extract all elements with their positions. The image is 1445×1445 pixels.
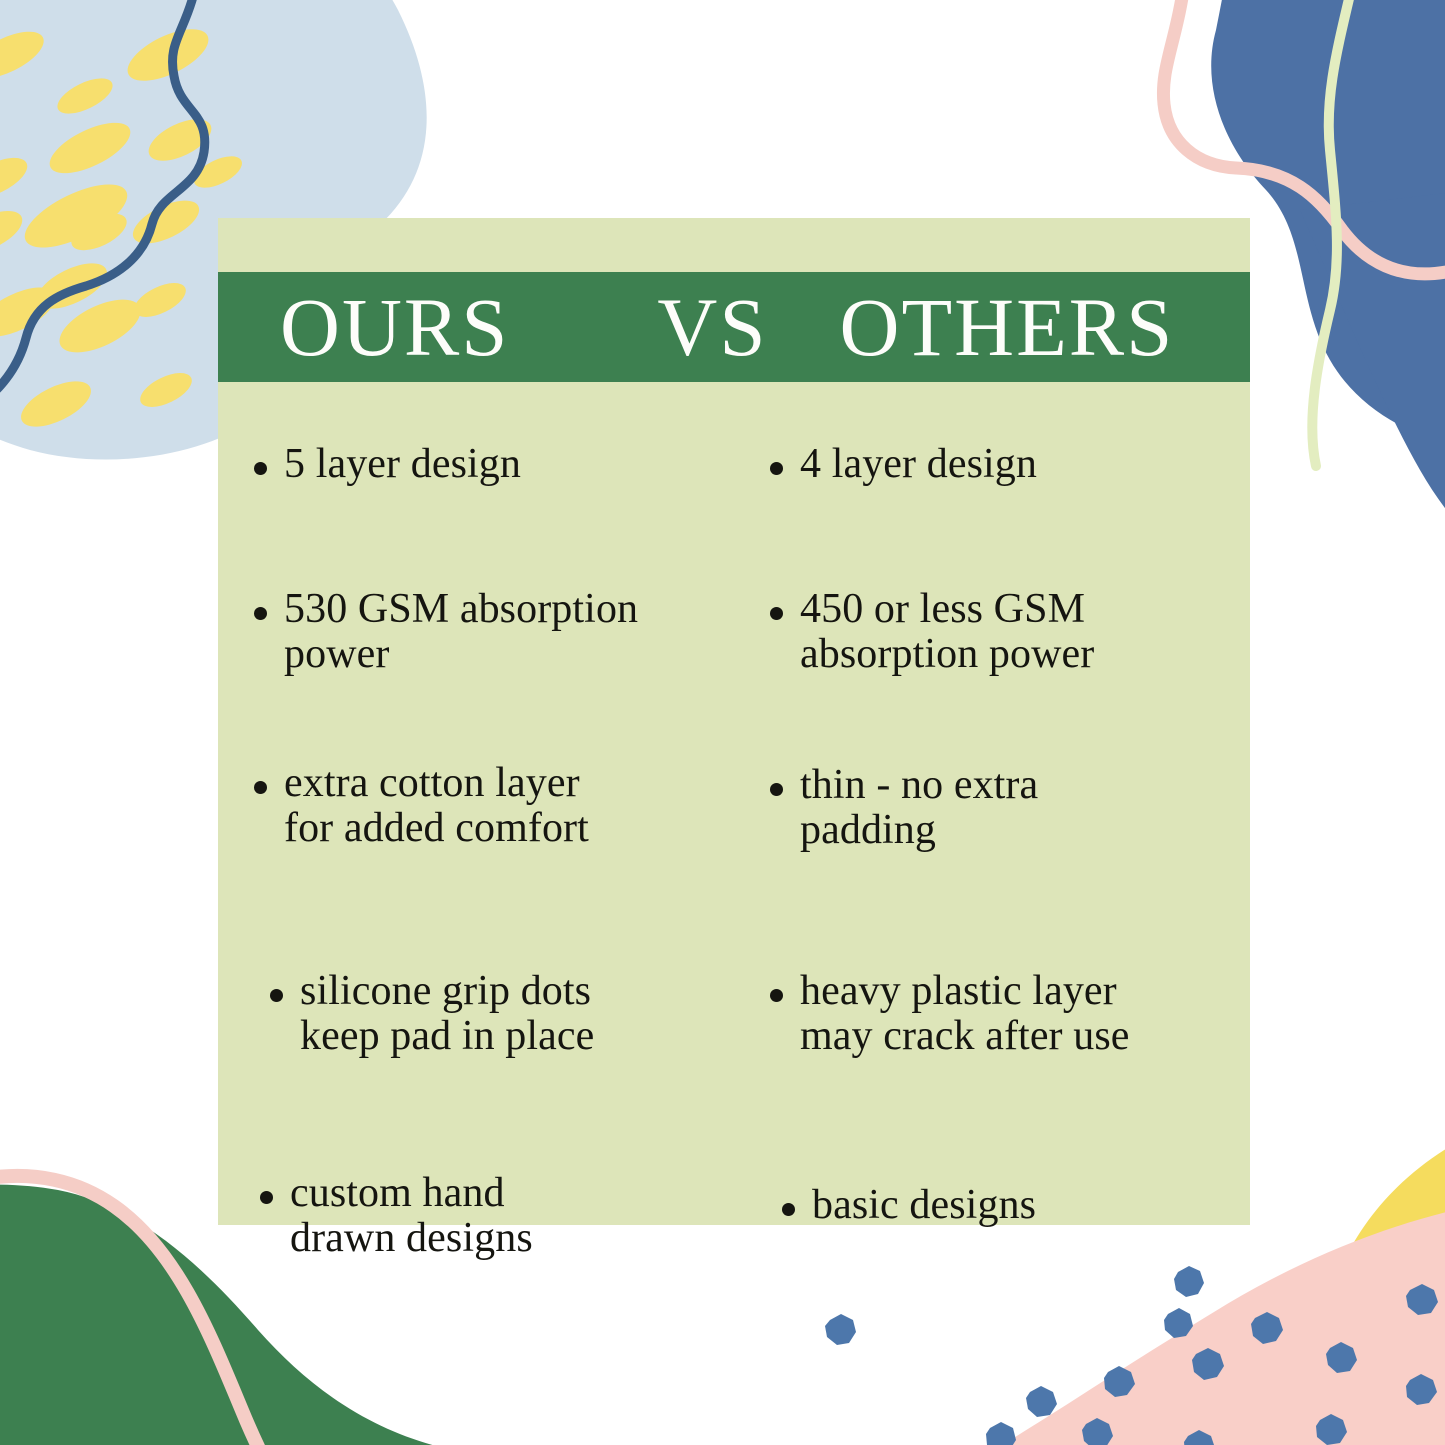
- list-item: 5 layer design: [254, 442, 724, 487]
- bullet-dot-icon: [270, 989, 283, 1002]
- header-title-ours: OURS: [280, 286, 509, 369]
- comparison-card: OURS VS OTHERS 5 layer design 530 GSM ab…: [218, 218, 1250, 1225]
- bullet-dot-icon: [254, 607, 267, 620]
- list-item-label: thin - no extra padding: [800, 763, 1038, 853]
- navy-blob-tail: [1300, 180, 1445, 580]
- list-item-label: heavy plastic layer may crack after use: [800, 969, 1130, 1059]
- bullet-dot-icon: [770, 462, 783, 475]
- list-item-label: silicone grip dots keep pad in place: [300, 969, 594, 1059]
- poster-canvas: OURS VS OTHERS 5 layer design 530 GSM ab…: [0, 0, 1445, 1445]
- pink-blob: [960, 1190, 1445, 1445]
- card-header-bar: OURS VS OTHERS: [218, 272, 1250, 382]
- list-item-label: custom hand drawn designs: [290, 1171, 533, 1261]
- bullet-dot-icon: [254, 462, 267, 475]
- list-item: thin - no extra padding: [770, 763, 1240, 853]
- column-ours: 5 layer design 530 GSM absorption power …: [218, 382, 734, 1225]
- list-item: extra cotton layer for added comfort: [254, 761, 724, 851]
- list-item-label: basic designs: [812, 1183, 1036, 1228]
- list-item: basic designs: [782, 1183, 1240, 1228]
- bullet-dot-icon: [770, 607, 783, 620]
- bullet-dot-icon: [254, 781, 267, 794]
- navy-squiggle-top-left: [0, 0, 205, 418]
- list-item: 450 or less GSM absorption power: [770, 587, 1240, 677]
- card-title-row: OURS VS OTHERS: [218, 286, 1250, 369]
- list-item: custom hand drawn designs: [260, 1171, 724, 1261]
- header-title-vs: VS: [657, 286, 767, 369]
- list-item-label: 4 layer design: [800, 442, 1037, 487]
- yellow-dash-group: [0, 19, 247, 436]
- list-item: silicone grip dots keep pad in place: [270, 969, 724, 1059]
- blue-dot-group: [825, 1266, 1438, 1445]
- list-item-label: 450 or less GSM absorption power: [800, 587, 1094, 677]
- list-item: 530 GSM absorption power: [254, 587, 724, 677]
- column-others: 4 layer design 450 or less GSM absorptio…: [734, 382, 1250, 1225]
- bullet-dot-icon: [770, 783, 783, 796]
- bullet-dot-icon: [770, 989, 783, 1002]
- bullet-dot-icon: [782, 1203, 795, 1216]
- lightgreen-squiggle-top-right: [1312, 0, 1358, 466]
- list-item-label: 530 GSM absorption power: [284, 587, 638, 677]
- yellow-blob: [1318, 1100, 1445, 1445]
- comparison-columns: 5 layer design 530 GSM absorption power …: [218, 382, 1250, 1225]
- list-item-label: extra cotton layer for added comfort: [284, 761, 589, 851]
- header-title-others: OTHERS: [840, 286, 1175, 369]
- list-item: 4 layer design: [770, 442, 1240, 487]
- bullet-dot-icon: [260, 1191, 273, 1204]
- list-item-label: 5 layer design: [284, 442, 521, 487]
- list-item: heavy plastic layer may crack after use: [770, 969, 1240, 1059]
